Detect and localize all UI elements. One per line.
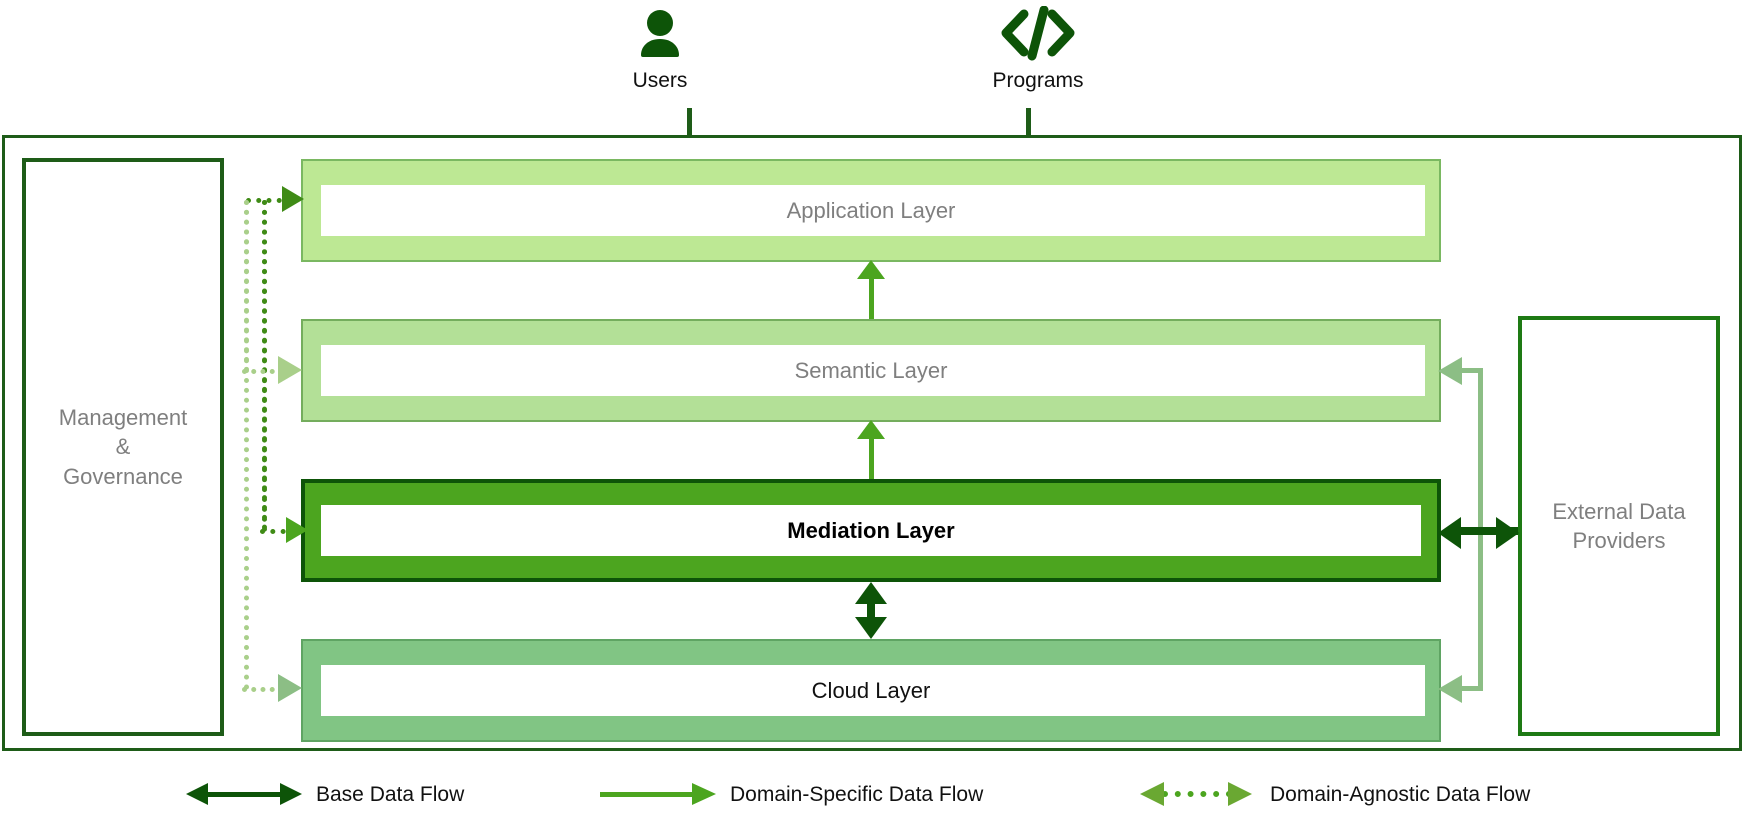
edp-line-1: External Data bbox=[1552, 499, 1685, 524]
agnostic-arrowhead-semantic bbox=[278, 356, 302, 384]
programs-connector-line bbox=[1026, 108, 1031, 138]
user-icon bbox=[600, 4, 720, 66]
management-governance-label: Management & Governance bbox=[59, 403, 187, 490]
layer-label-mediation: Mediation Layer bbox=[787, 520, 954, 542]
edp-line-2: Providers bbox=[1573, 528, 1666, 553]
legend-label-domain-agnostic-data-flow: Domain-Agnostic Data Flow bbox=[1270, 784, 1530, 805]
mg-line-1: Management bbox=[59, 405, 187, 430]
legend: Base Data Flow Domain-Specific Data Flow… bbox=[0, 770, 1744, 818]
domain-specific-data-flow-icon bbox=[600, 779, 716, 809]
layer-semantic[interactable]: Semantic Layer bbox=[301, 319, 1441, 422]
flow-semantic-to-application-arrowhead bbox=[857, 260, 885, 279]
legend-label-domain-specific-data-flow: Domain-Specific Data Flow bbox=[730, 784, 983, 805]
domain-agnostic-data-flow-icon bbox=[1140, 779, 1256, 809]
layer-label-cloud: Cloud Layer bbox=[812, 680, 931, 702]
actor-users: Users bbox=[600, 4, 720, 91]
actor-programs: Programs bbox=[978, 4, 1098, 91]
layer-mediation[interactable]: Mediation Layer bbox=[301, 479, 1441, 582]
mg-line-2: & bbox=[116, 434, 131, 459]
mediation-external-arrowhead-right bbox=[1496, 517, 1519, 549]
base-data-flow-icon bbox=[186, 779, 302, 809]
actor-label-programs: Programs bbox=[978, 70, 1098, 91]
legend-item-domain-agnostic-data-flow: Domain-Agnostic Data Flow bbox=[1140, 770, 1530, 818]
legend-item-base-data-flow: Base Data Flow bbox=[186, 770, 464, 818]
flow-mediation-to-semantic-shaft bbox=[869, 435, 874, 479]
layer-label-semantic: Semantic Layer bbox=[795, 360, 948, 382]
layer-label-application: Application Layer bbox=[787, 200, 956, 222]
flow-mediation-to-semantic-arrowhead bbox=[857, 420, 885, 439]
layer-cloud[interactable]: Cloud Layer bbox=[301, 639, 1441, 742]
external-return-arrowhead-semantic bbox=[1438, 357, 1462, 385]
mg-line-3: Governance bbox=[63, 464, 183, 489]
management-governance-box: Management & Governance bbox=[22, 158, 224, 736]
agnostic-arrowhead-application bbox=[282, 186, 304, 212]
external-return-arrowhead-cloud bbox=[1438, 675, 1462, 703]
agnostic-arrowhead-mediation bbox=[286, 517, 308, 543]
agnostic-trunk-mediation bbox=[262, 200, 267, 532]
legend-item-domain-specific-data-flow: Domain-Specific Data Flow bbox=[600, 770, 983, 818]
legend-label-base-data-flow: Base Data Flow bbox=[316, 784, 464, 805]
architecture-diagram: Users Programs Management & Governance E… bbox=[0, 0, 1744, 818]
flow-semantic-to-application-shaft bbox=[869, 275, 874, 319]
users-connector-line bbox=[687, 108, 692, 138]
actor-label-users: Users bbox=[600, 70, 720, 91]
flow-mediation-cloud-arrowhead-up bbox=[855, 582, 887, 604]
code-brackets-icon bbox=[978, 4, 1098, 66]
flow-mediation-cloud-arrowhead-down bbox=[855, 617, 887, 639]
external-data-providers-box: External Data Providers bbox=[1518, 316, 1720, 736]
layer-application[interactable]: Application Layer bbox=[301, 159, 1441, 262]
agnostic-arrowhead-cloud bbox=[278, 674, 302, 702]
agnostic-trunk-cloud bbox=[244, 200, 249, 690]
external-data-providers-label: External Data Providers bbox=[1552, 497, 1685, 555]
mediation-external-arrowhead-left bbox=[1438, 517, 1461, 549]
